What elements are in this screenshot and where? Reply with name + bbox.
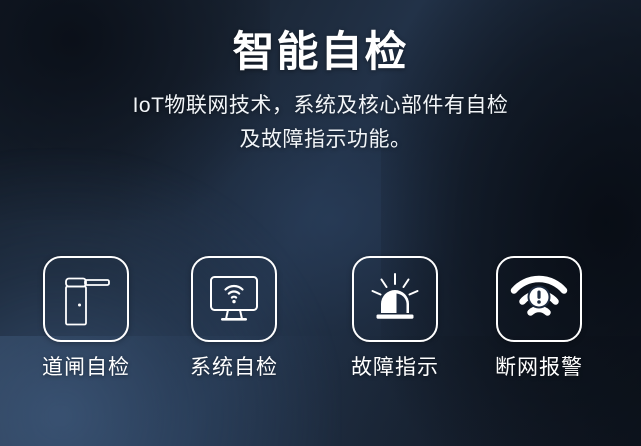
barrier-gate-icon	[58, 269, 114, 329]
page-title: 智能自检	[0, 0, 641, 75]
feature-list: 道闸自检 系统自检	[0, 256, 641, 406]
icon-card-network-alarm[interactable]	[496, 256, 582, 342]
feature-label-network-alarm: 断网报警	[480, 355, 598, 380]
subtitle-line-1: IoT物联网技术，系统及核心部件有自检	[106, 89, 536, 123]
monitor-wifi-icon	[205, 272, 263, 326]
alarm-beacon-icon	[367, 271, 423, 327]
feature-label-fault: 故障指示	[336, 355, 454, 380]
promo-banner: 智能自检 IoT物联网技术，系统及核心部件有自检 及故障指示功能。 道闸自检	[0, 0, 641, 446]
icon-card-barrier-gate[interactable]	[43, 256, 129, 342]
feature-label-system: 系统自检	[175, 355, 293, 380]
feature-item-barrier-gate[interactable]: 道闸自检	[27, 256, 145, 380]
wifi-alert-icon	[510, 275, 568, 323]
subtitle-line-2: 及故障指示功能。	[106, 123, 536, 157]
feature-item-network-alarm[interactable]: 断网报警	[480, 256, 598, 380]
feature-label-barrier-gate: 道闸自检	[27, 355, 145, 380]
header: 智能自检 IoT物联网技术，系统及核心部件有自检 及故障指示功能。	[0, 0, 641, 157]
page-subtitle: IoT物联网技术，系统及核心部件有自检 及故障指示功能。	[106, 89, 536, 157]
feature-item-system[interactable]: 系统自检	[175, 256, 293, 380]
feature-item-fault[interactable]: 故障指示	[336, 256, 454, 380]
icon-card-system[interactable]	[191, 256, 277, 342]
icon-card-fault[interactable]	[352, 256, 438, 342]
